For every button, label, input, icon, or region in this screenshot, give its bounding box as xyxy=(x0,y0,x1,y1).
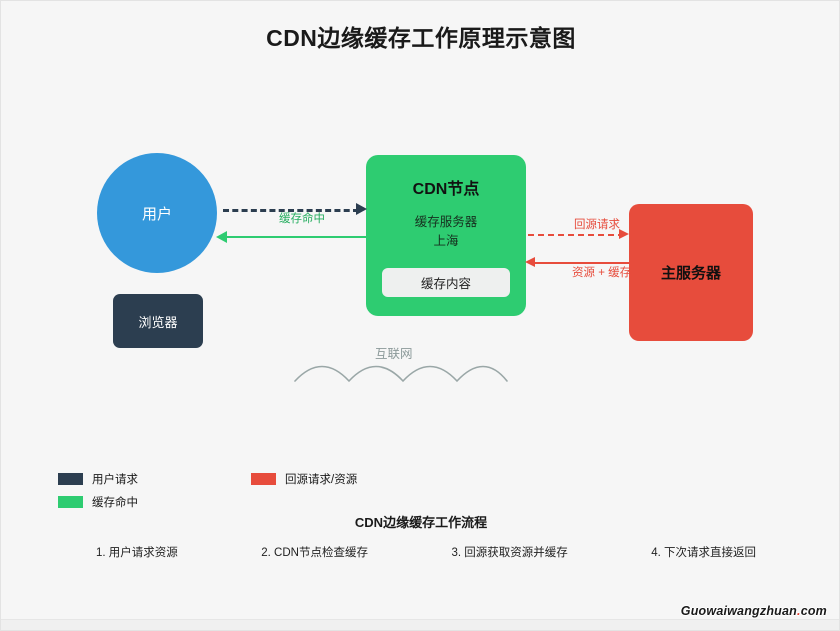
edge-origin-request-label: 回源请求 xyxy=(574,216,620,232)
page-title: CDN边缘缓存工作原理示意图 xyxy=(1,19,840,53)
workflow-title: CDN边缘缓存工作流程 xyxy=(1,512,840,531)
edge-origin-response-label: 资源 + 缓存 xyxy=(572,264,631,280)
node-cdn-subtitle-2: 上海 xyxy=(366,232,526,251)
node-browser-label: 浏览器 xyxy=(138,312,177,331)
legend-item-user-request: 用户请求 xyxy=(58,471,138,487)
node-cdn-subtitle-1: 缓存服务器 xyxy=(366,213,526,232)
edge-user-request-arrowhead-icon xyxy=(356,203,367,215)
internet-wave-icon xyxy=(293,353,509,387)
workflow-step-3: 3. 回源获取资源并缓存 xyxy=(451,544,567,560)
diagram-page: CDN边缘缓存工作原理示意图 用户 浏览器 CDN节点 缓存服务器 上海 缓存内… xyxy=(0,0,840,631)
node-origin-server-label: 主服务器 xyxy=(661,262,721,283)
watermark: Guowaiwangzhuan.com xyxy=(681,604,827,618)
node-cdn-title: CDN节点 xyxy=(366,175,526,199)
legend-label-user-request: 用户请求 xyxy=(92,471,138,487)
legend-swatch-origin-request-icon xyxy=(251,473,276,485)
legend-label-origin-request: 回源请求/资源 xyxy=(285,471,357,487)
workflow-step-2: 2. CDN节点检查缓存 xyxy=(261,544,368,560)
watermark-name: Guowaiwangzhuan xyxy=(681,604,797,618)
edge-origin-request-arrowhead-icon xyxy=(619,229,629,239)
legend-row-1: 用户请求 回源请求/资源 xyxy=(58,469,378,489)
footer-strip xyxy=(1,619,840,630)
edge-cache-hit-arrowhead-icon xyxy=(216,231,227,243)
workflow-step-4: 4. 下次请求直接返回 xyxy=(651,544,756,560)
cdn-cache-content-box[interactable]: 缓存内容 xyxy=(382,268,510,297)
edge-cache-hit-label: 缓存命中 xyxy=(279,210,325,226)
diagram-canvas: CDN边缘缓存工作原理示意图 用户 浏览器 CDN节点 缓存服务器 上海 缓存内… xyxy=(1,1,839,630)
node-user[interactable]: 用户 xyxy=(97,153,217,273)
workflow-steps: 1. 用户请求资源 2. CDN节点检查缓存 3. 回源获取资源并缓存 4. 下… xyxy=(96,544,756,560)
legend-row-2: 缓存命中 xyxy=(58,492,378,512)
workflow-step-1: 1. 用户请求资源 xyxy=(96,544,178,560)
legend-swatch-cache-hit-icon xyxy=(58,496,83,508)
edge-cache-hit-line xyxy=(226,236,366,238)
node-cdn[interactable]: CDN节点 缓存服务器 上海 缓存内容 xyxy=(366,155,526,316)
watermark-suffix: com xyxy=(801,604,827,618)
legend-swatch-user-request-icon xyxy=(58,473,83,485)
node-user-label: 用户 xyxy=(142,203,172,224)
legend: 用户请求 回源请求/资源 缓存命中 xyxy=(58,469,378,515)
edge-origin-request-line xyxy=(528,234,624,236)
edge-origin-response-arrowhead-icon xyxy=(525,257,535,267)
legend-label-cache-hit: 缓存命中 xyxy=(92,494,138,510)
cdn-cache-content-label: 缓存内容 xyxy=(421,273,471,292)
legend-item-origin-request: 回源请求/资源 xyxy=(251,471,357,487)
legend-item-cache-hit: 缓存命中 xyxy=(58,494,138,510)
node-browser[interactable]: 浏览器 xyxy=(113,294,203,348)
node-origin-server[interactable]: 主服务器 xyxy=(629,204,753,341)
